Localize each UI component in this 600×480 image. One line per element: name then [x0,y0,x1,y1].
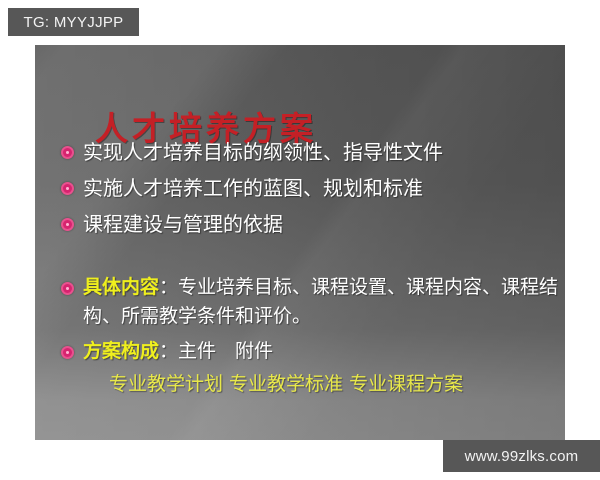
bullet-list: 实现人才培养目标的纲领性、指导性文件 实施人才培养工作的蓝图、规划和标准 课程建… [61,137,561,398]
list-item: 实现人才培养目标的纲领性、指导性文件 [61,137,561,167]
composition-paragraph: 方案构成：主件 附件 [83,337,561,366]
list-item-detail: 具体内容：专业培养目标、课程设置、课程内容、课程结构、所需教学条件和评价。 [61,273,561,331]
bullet-marker-icon [61,218,74,231]
bullet-marker-icon [61,146,74,159]
bullet-marker-icon [61,346,74,359]
bullet-marker-icon [61,282,74,295]
bullet-text: 实施人才培养工作的蓝图、规划和标准 [83,173,561,203]
list-item: 课程建设与管理的依据 [61,209,561,239]
detail-lead-label: 具体内容 [83,276,159,298]
slide-content: 人才培养方案 实现人才培养目标的纲领性、指导性文件 实施人才培养工作的蓝图、规划… [35,45,565,440]
composition-separator: ： [159,340,178,362]
composition-body-text: 主件 附件 [178,340,273,362]
presentation-slide: 人才培养方案 实现人才培养目标的纲领性、指导性文件 实施人才培养工作的蓝图、规划… [35,45,565,440]
bullet-text: 课程建设与管理的依据 [83,209,561,239]
watermark-bottom-right: www.99zlks.com [443,440,600,472]
bullet-text: 实现人才培养目标的纲领性、指导性文件 [83,137,561,167]
composition-lead-label: 方案构成 [83,340,159,362]
bullet-marker-icon [61,182,74,195]
detail-paragraph: 具体内容：专业培养目标、课程设置、课程内容、课程结构、所需教学条件和评价。 [83,273,561,331]
composition-sub-items: 专业教学计划 专业教学标准 专业课程方案 [109,370,565,398]
detail-separator: ： [159,276,178,298]
watermark-top-left: TG: MYYJJPP [8,8,139,36]
list-item: 实施人才培养工作的蓝图、规划和标准 [61,173,561,203]
list-item-composition: 方案构成：主件 附件 [61,337,561,366]
